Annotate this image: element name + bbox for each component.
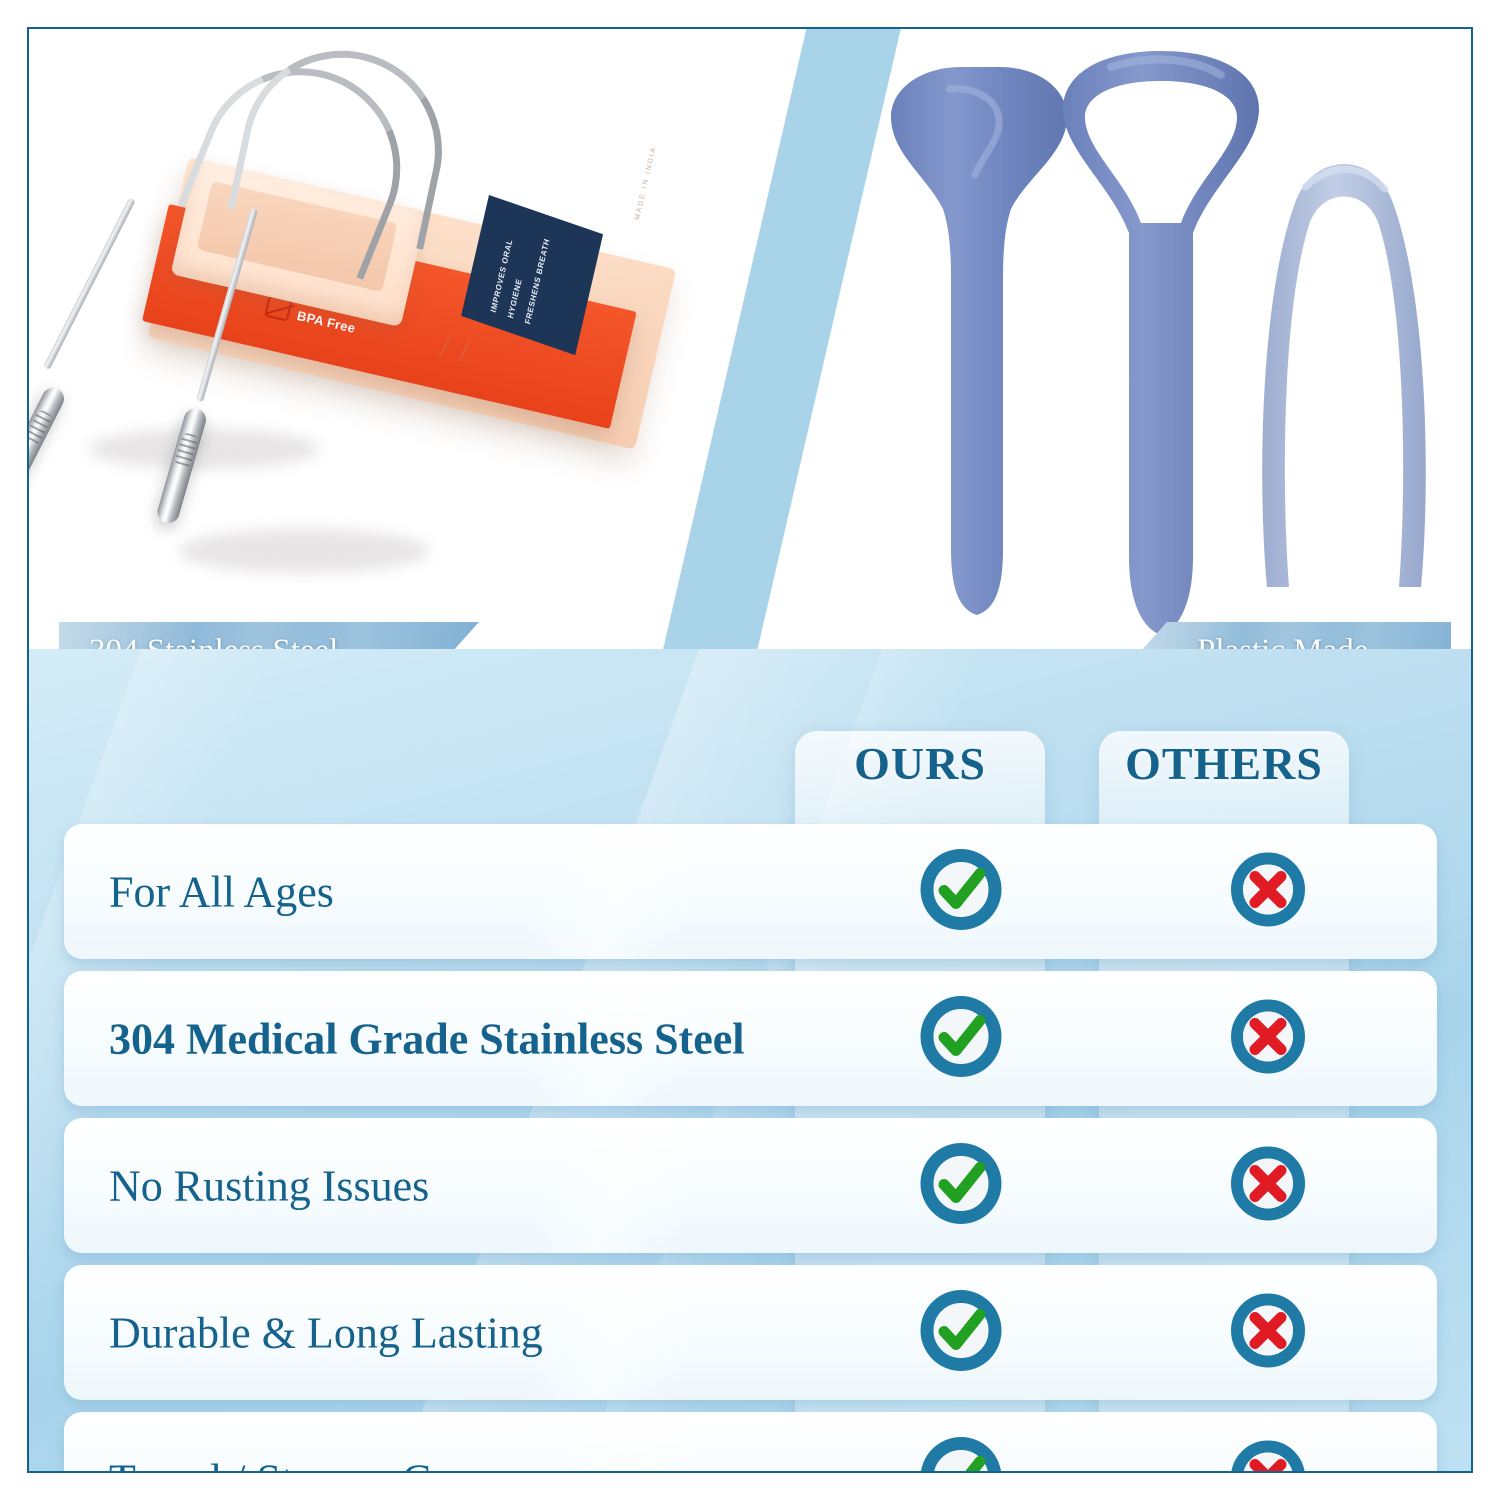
claim-line-2: HYGIENE — [506, 277, 524, 319]
check-icon — [920, 848, 1002, 935]
plastic-scraper-loop — [1051, 37, 1271, 647]
table-row: Durable & Long Lasting — [64, 1265, 1437, 1400]
scraper-shadow — [179, 529, 429, 573]
plastic-product-photo — [819, 29, 1471, 649]
cross-icon — [1230, 851, 1306, 932]
table-row: For All Ages — [64, 824, 1437, 959]
cross-icon — [1230, 1292, 1306, 1373]
table-row: 304 Medical Grade Stainless Steel — [64, 971, 1437, 1106]
infographic-frame: PACK OF 1 BPA Free IMPROVES ORAL HYGIENE… — [27, 27, 1473, 1473]
product-photo-area: PACK OF 1 BPA Free IMPROVES ORAL HYGIENE… — [29, 29, 1471, 649]
caption-ribbon-steel: 304 Stainless Steel — [59, 622, 479, 649]
plastic-scraper-spatula — [879, 49, 1079, 639]
plastic-scraper-u-shape — [1239, 117, 1449, 607]
check-icon — [920, 1142, 1002, 1229]
feature-label: Durable & Long Lasting — [109, 1307, 543, 1358]
caption-ribbon-plastic: Plastic Made — [1141, 622, 1451, 649]
caption-plastic-label: Plastic Made — [1197, 633, 1368, 649]
comparison-table: OURS OTHERS For All Ages — [29, 649, 1471, 1473]
scraper-shadow — [89, 429, 319, 469]
check-icon — [920, 1289, 1002, 1376]
cross-icon — [1230, 1439, 1306, 1473]
table-row: No Rusting Issues — [64, 1118, 1437, 1253]
column-header-others: OTHERS — [1099, 737, 1349, 790]
brand-vmark-icon — [439, 336, 471, 361]
feature-label: For All Ages — [109, 866, 334, 917]
check-icon — [920, 995, 1002, 1082]
feature-label: 304 Medical Grade Stainless Steel — [109, 1013, 745, 1064]
caption-steel-label: 304 Stainless Steel — [89, 633, 338, 649]
cross-icon — [1230, 998, 1306, 1079]
check-icon — [920, 1436, 1002, 1473]
cross-icon — [1230, 1145, 1306, 1226]
feature-label: Travel / Storage Case — [109, 1454, 487, 1473]
table-row: Travel / Storage Case — [64, 1412, 1437, 1473]
column-header-ours: OURS — [795, 737, 1045, 790]
box-side-text: MADE IN INDIA — [633, 145, 659, 221]
feature-label: No Rusting Issues — [109, 1160, 429, 1211]
steel-product-photo: PACK OF 1 BPA Free IMPROVES ORAL HYGIENE… — [29, 29, 729, 649]
claim-line-3: FRESHENS BREATH — [523, 237, 551, 325]
